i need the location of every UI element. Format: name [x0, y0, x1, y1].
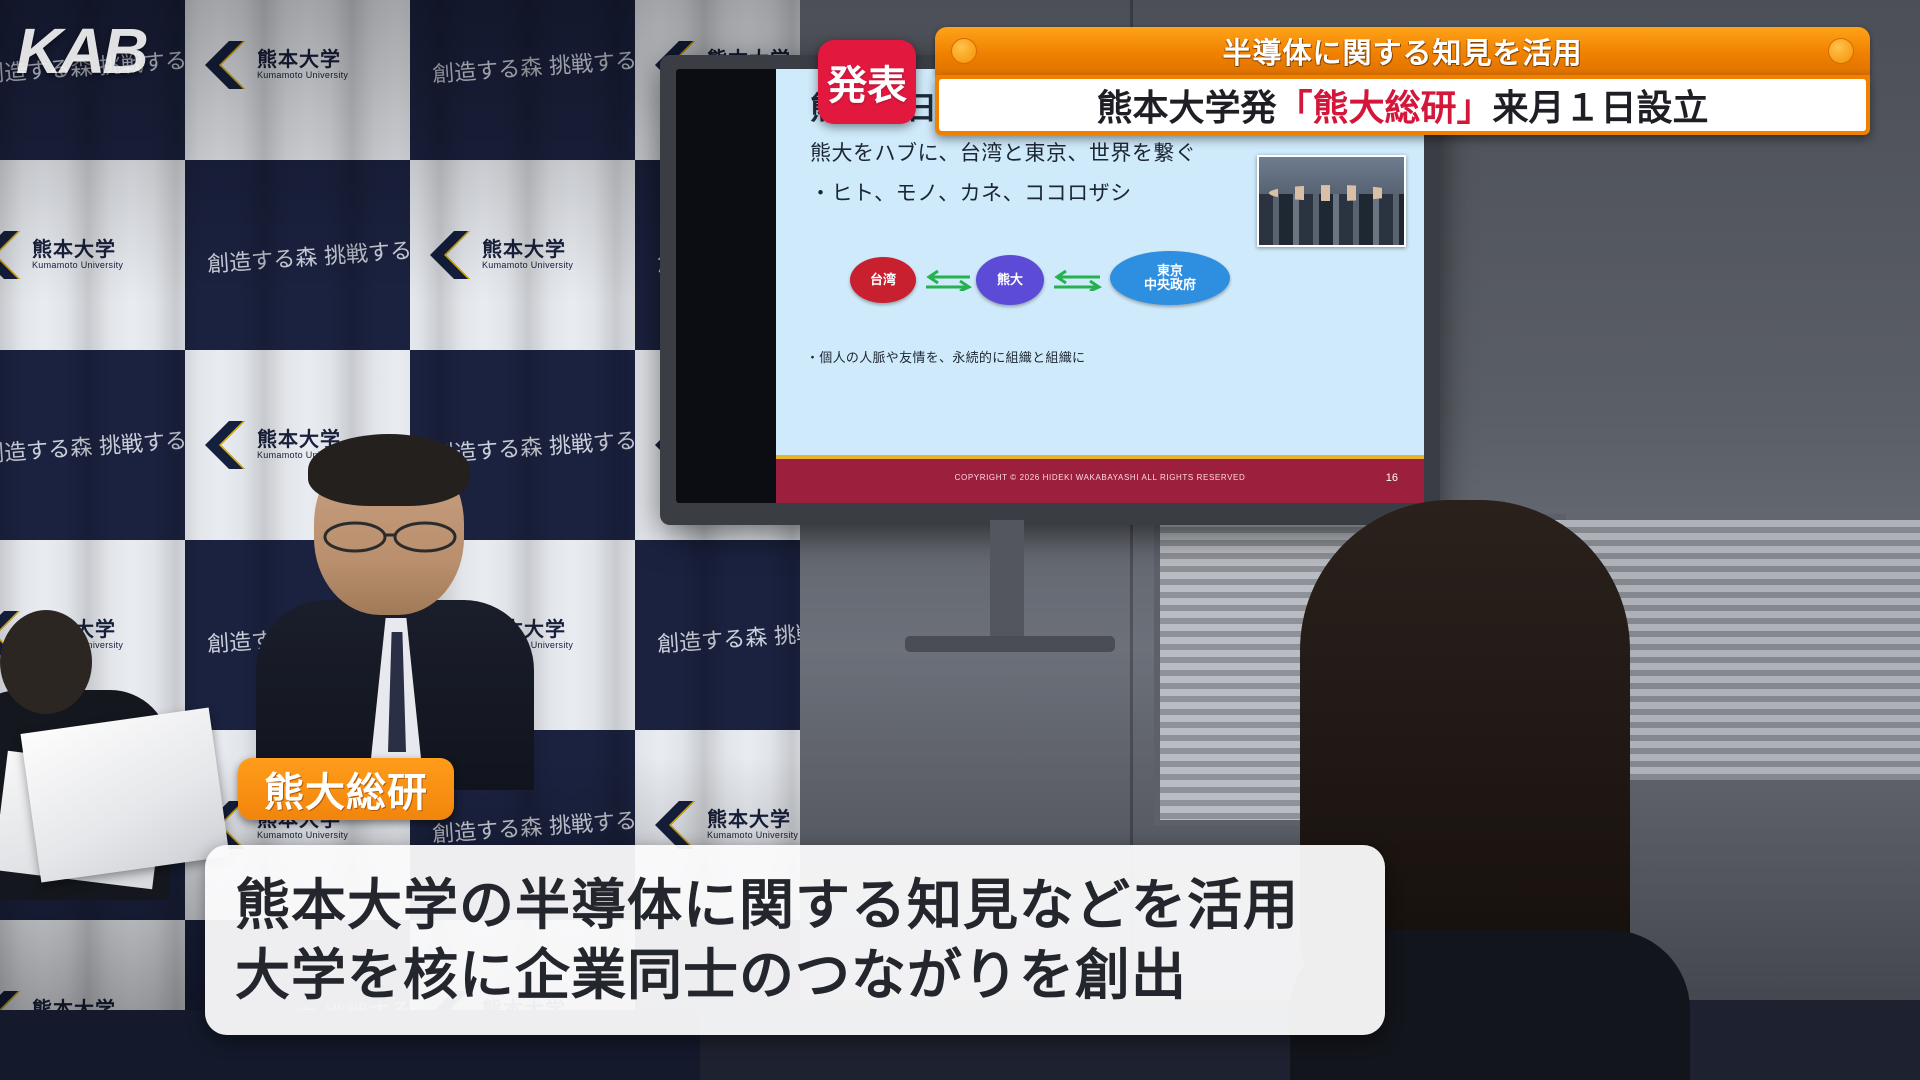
eyeglasses-icon: [322, 520, 458, 554]
arrow-left-icon-2: [1052, 269, 1102, 291]
monitor-stand: [990, 520, 1024, 640]
news-headline-prefix: 熊本大学発: [1096, 87, 1276, 128]
diagram-node-tokyo: 東京 中央政府: [1110, 251, 1230, 305]
slide-page-number: 16: [1386, 472, 1398, 484]
diagram-node-tokyo-line1: 東京: [1144, 264, 1196, 278]
diagram-node-kumadai-label: 熊大: [997, 273, 1023, 287]
attendee-head: [0, 610, 92, 714]
news-headline-inner: 熊本大学発「熊大総研」来月１日設立: [939, 79, 1866, 131]
topic-chip: 熊大総研: [238, 758, 454, 820]
monitor-base: [905, 636, 1115, 652]
bullet-dot-right-icon: [1828, 38, 1854, 64]
news-headline-suffix: 来月１日設立: [1493, 87, 1709, 128]
slide-bullet-1: 熊大をハブに、台湾と東京、世界を繋ぐ: [810, 137, 1196, 167]
slide-photo-inset: [1257, 155, 1406, 247]
caption-line-2: 大学を核に企業同士のつながりを創出: [235, 940, 1355, 1010]
news-headline-text: 熊本大学発「熊大総研」来月１日設立: [1096, 79, 1708, 131]
diagram-node-kumadai: 熊大: [976, 255, 1044, 305]
broadcast-frame: 創造する森 挑戦する炎 熊本大学 Kumamoto University 創造す…: [0, 0, 1920, 1080]
topic-chip-label: 熊大総研: [264, 760, 428, 818]
subtitle-caption-box: 熊本大学の半導体に関する知見などを活用 大学を核に企業同士のつながりを創出: [205, 845, 1385, 1035]
slide-bullet-2: ・ヒト、モノ、カネ、ココロザシ: [810, 177, 1132, 207]
slide-note: ・個人の人脈や友情を、永続的に組織と組織に: [806, 347, 1085, 366]
arrow-left-icon: [924, 269, 972, 291]
diagram-node-taiwan-label: 台湾: [870, 273, 896, 287]
announcement-badge-label: 発表: [827, 53, 907, 111]
announcement-badge: 発表: [818, 40, 916, 124]
kab-channel-logo: KAB: [16, 14, 146, 88]
photo-heads: [1269, 185, 1397, 201]
caption-line-1: 熊本大学の半導体に関する知見などを活用: [235, 870, 1355, 940]
photo-people-silhouettes: [1259, 194, 1404, 245]
bullet-dot-left-icon: [951, 38, 977, 64]
slide-footer: COPYRIGHT © 2026 HIDEKI WAKABAYASHI ALL …: [776, 459, 1424, 503]
news-kicker-text: 半導体に関する知見を活用: [977, 30, 1828, 72]
slide-copyright: COPYRIGHT © 2026 HIDEKI WAKABAYASHI ALL …: [955, 473, 1246, 482]
news-kicker-bar: 半導体に関する知見を活用: [935, 27, 1870, 75]
paper-stack: [20, 708, 229, 883]
speaker-hair: [308, 434, 470, 506]
diagram-node-tokyo-line2: 中央政府: [1144, 278, 1196, 292]
news-headline-bar: 熊本大学発「熊大総研」来月１日設立: [935, 75, 1870, 135]
speaker-person: [278, 440, 508, 770]
news-headline-quoted: 「熊大総研」: [1276, 87, 1492, 128]
diagram-node-taiwan: 台湾: [850, 257, 916, 303]
